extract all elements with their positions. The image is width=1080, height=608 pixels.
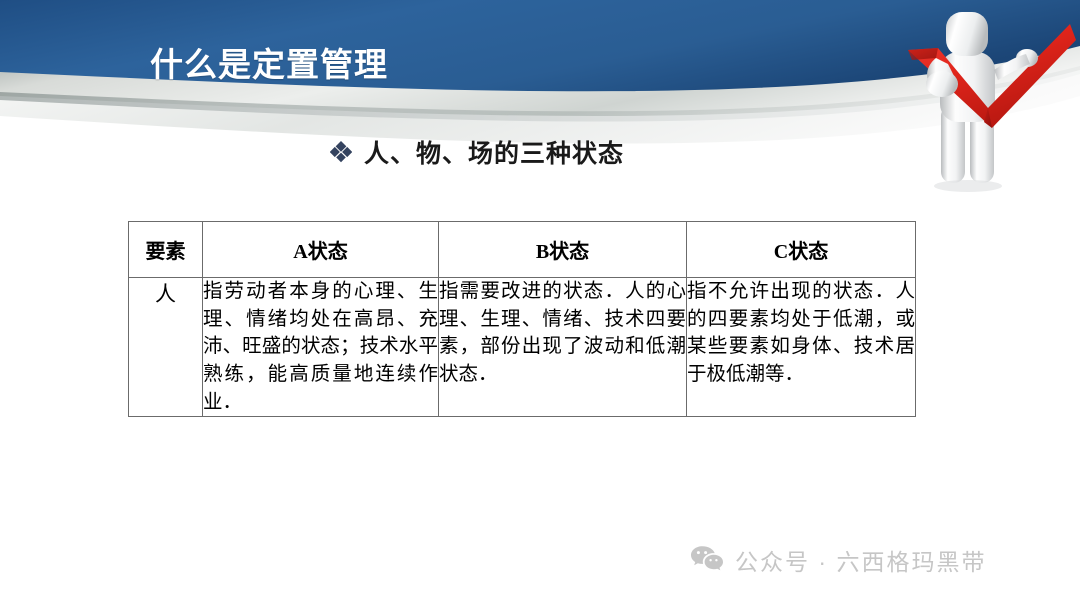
three-states-table: 要素 A状态 B状态 C状态 人 指劳动者本身的心理、生理、情绪均处在高昂、充沛…: [128, 221, 916, 417]
table-header-factor: 要素: [129, 222, 203, 278]
wechat-icon: [690, 545, 724, 575]
cell-state-c: 指不允许出现的状态．人的四要素均处于低潮，或某些要素如身体、技术居于极低潮等．: [687, 278, 916, 417]
subtitle-row: 人、物、场的三种状态: [330, 134, 624, 170]
watermark: 公众号 · 六西格玛黑带: [690, 543, 986, 577]
cell-state-b: 指需要改进的状态．人的心理、生理、情绪、技术四要素，部份出现了波动和低潮状态．: [439, 278, 687, 417]
table-header-row: 要素 A状态 B状态 C状态: [129, 222, 916, 278]
banner-shape: [0, 0, 1080, 200]
page-title: 什么是定置管理: [150, 38, 388, 86]
row-label-person: 人: [129, 278, 203, 417]
watermark-text: 公众号 · 六西格玛黑带: [735, 543, 986, 577]
table-header-state-b: B状态: [439, 222, 687, 278]
slide-canvas: 什么是定置管理 人、物、场的三种状态 要素 A状态 B状态 C状态 人 指劳动者: [0, 0, 1080, 608]
table-header-state-a: A状态: [203, 222, 439, 278]
diamond-cluster-bullet-icon: [330, 141, 352, 163]
table-header-state-c: C状态: [687, 222, 916, 278]
table-row: 人 指劳动者本身的心理、生理、情绪均处在高昂、充沛、旺盛的状态；技术水平熟练，能…: [129, 278, 916, 417]
subtitle-text: 人、物、场的三种状态: [364, 134, 624, 170]
3d-figure-holding-red-check-icon: [900, 0, 1080, 200]
cell-state-a: 指劳动者本身的心理、生理、情绪均处在高昂、充沛、旺盛的状态；技术水平熟练，能高质…: [203, 278, 439, 417]
header-banner: [0, 0, 1080, 200]
